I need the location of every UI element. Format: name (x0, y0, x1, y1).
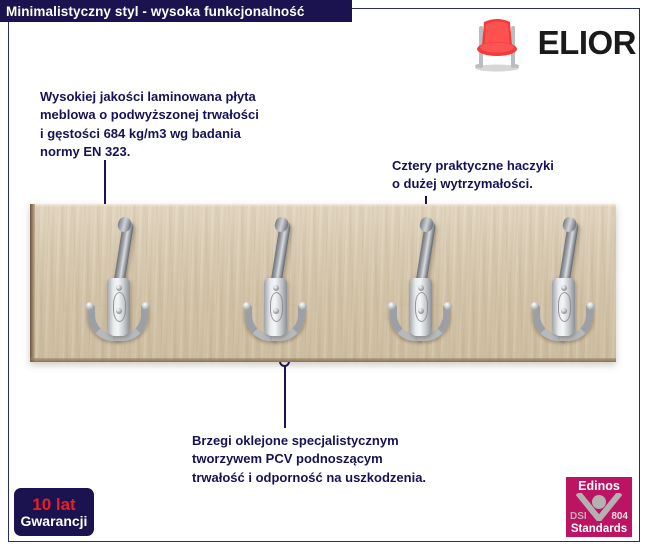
hook-screw (418, 285, 424, 291)
metal-triple-hook (85, 220, 151, 350)
edinos-code-left: DSI (570, 511, 587, 522)
hook-ornament (113, 292, 126, 322)
hook-ornament (415, 292, 428, 322)
warranty-label: Gwarancji (21, 514, 88, 529)
infographic-page: Minimalistyczny styl - wysoka funkcjonal… (0, 0, 650, 560)
callout-board-quality: Wysokiej jakości laminowana płyta meblow… (40, 88, 340, 162)
edinos-standards-label: Standards (571, 523, 627, 535)
metal-triple-hook (387, 220, 453, 350)
callout-edges: Brzegi oklejone specjalistycznym tworzyw… (192, 432, 512, 487)
callout-hooks: Cztery praktyczne haczyki o dużej wytrzy… (392, 157, 632, 194)
logo-wordmark: ELIOR (538, 24, 636, 62)
hook-ornament (558, 292, 571, 322)
leader-line-edges (284, 366, 286, 428)
hook-baseplate (107, 278, 130, 336)
edinos-check-icon: DSI 804 (566, 493, 632, 521)
edinos-brand: Edinos (578, 479, 620, 493)
hook-knob-right (587, 302, 595, 310)
metal-triple-hook (530, 220, 596, 350)
red-chair-icon (466, 12, 528, 74)
hook-knob-right (299, 302, 307, 310)
hook-baseplate (552, 278, 575, 336)
warranty-badge: 10 lat Gwarancji (14, 488, 94, 536)
metal-triple-hook (242, 220, 308, 350)
laminated-wood-board (30, 204, 616, 362)
edinos-code-right: 804 (611, 511, 628, 522)
warranty-years: 10 lat (32, 496, 75, 514)
hook-knob-right (444, 302, 452, 310)
board-edge-left (30, 204, 35, 362)
hook-screw (273, 285, 279, 291)
board-edge-bottom (30, 358, 616, 362)
hook-screw (561, 308, 567, 314)
hook-baseplate (264, 278, 287, 336)
hook-knob-left (243, 302, 251, 310)
edinos-badge: Edinos DSI 804 Standards (566, 477, 632, 537)
hook-knob-left (388, 302, 396, 310)
hook-screw (418, 308, 424, 314)
brand-logo: ELIOR (466, 10, 636, 76)
hook-screw (561, 285, 567, 291)
hook-knob-left (531, 302, 539, 310)
hook-baseplate (409, 278, 432, 336)
board-edge-top (30, 204, 616, 207)
hook-screw (116, 285, 122, 291)
hook-knob-left (86, 302, 94, 310)
hook-screw (116, 308, 122, 314)
page-title: Minimalistyczny styl - wysoka funkcjonal… (0, 4, 305, 19)
hook-screw (273, 308, 279, 314)
title-banner: Minimalistyczny styl - wysoka funkcjonal… (0, 0, 352, 22)
hook-knob-right (142, 302, 150, 310)
hook-ornament (270, 292, 283, 322)
